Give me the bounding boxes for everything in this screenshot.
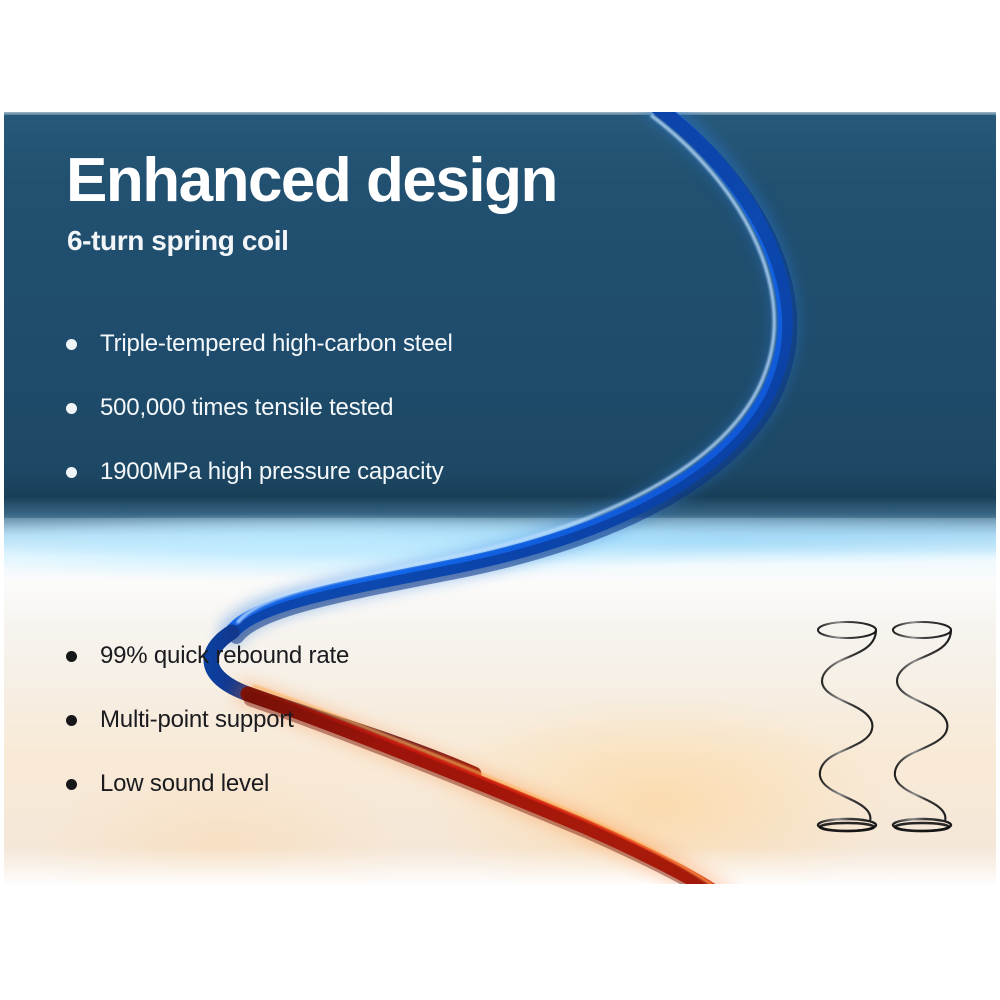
- page-subtitle: 6-turn spring coil: [67, 225, 288, 257]
- list-item: Triple-tempered high-carbon steel: [66, 312, 586, 376]
- list-item-label: 1900MPa high pressure capacity: [100, 458, 444, 486]
- bullet-dot-icon: [66, 403, 77, 414]
- spring-coils-illustration: [814, 617, 974, 842]
- bullet-dot-icon: [66, 467, 77, 478]
- upper-feature-list: Triple-tempered high-carbon steel 500,00…: [66, 312, 586, 504]
- list-item-label: Multi-point support: [100, 706, 294, 734]
- bullet-dot-icon: [66, 715, 77, 726]
- bullet-dot-icon: [66, 779, 77, 790]
- list-item: 500,000 times tensile tested: [66, 376, 586, 440]
- panel-top-highlight-line: [4, 112, 996, 115]
- list-item: Multi-point support: [66, 688, 536, 752]
- list-item-label: 500,000 times tensile tested: [100, 394, 393, 422]
- lower-panel-bottom-fade: [4, 847, 996, 884]
- list-item-label: 99% quick rebound rate: [100, 642, 349, 670]
- poster-image-card: Enhanced design 6-turn spring coil Tripl…: [4, 112, 996, 884]
- page-title: Enhanced design: [66, 150, 557, 212]
- product-feature-poster: Enhanced design 6-turn spring coil Tripl…: [0, 0, 1000, 1000]
- list-item: Low sound level: [66, 752, 536, 816]
- list-item: 99% quick rebound rate: [66, 624, 536, 688]
- list-item-label: Triple-tempered high-carbon steel: [100, 330, 453, 358]
- spring-coil-right: [893, 622, 951, 831]
- lower-feature-list: 99% quick rebound rate Multi-point suppo…: [66, 624, 536, 816]
- list-item-label: Low sound level: [100, 770, 269, 798]
- bullet-dot-icon: [66, 339, 77, 350]
- spring-coil-photo-pair: [814, 617, 974, 842]
- bullet-dot-icon: [66, 651, 77, 662]
- list-item: 1900MPa high pressure capacity: [66, 440, 586, 504]
- spring-coil-left: [818, 622, 876, 831]
